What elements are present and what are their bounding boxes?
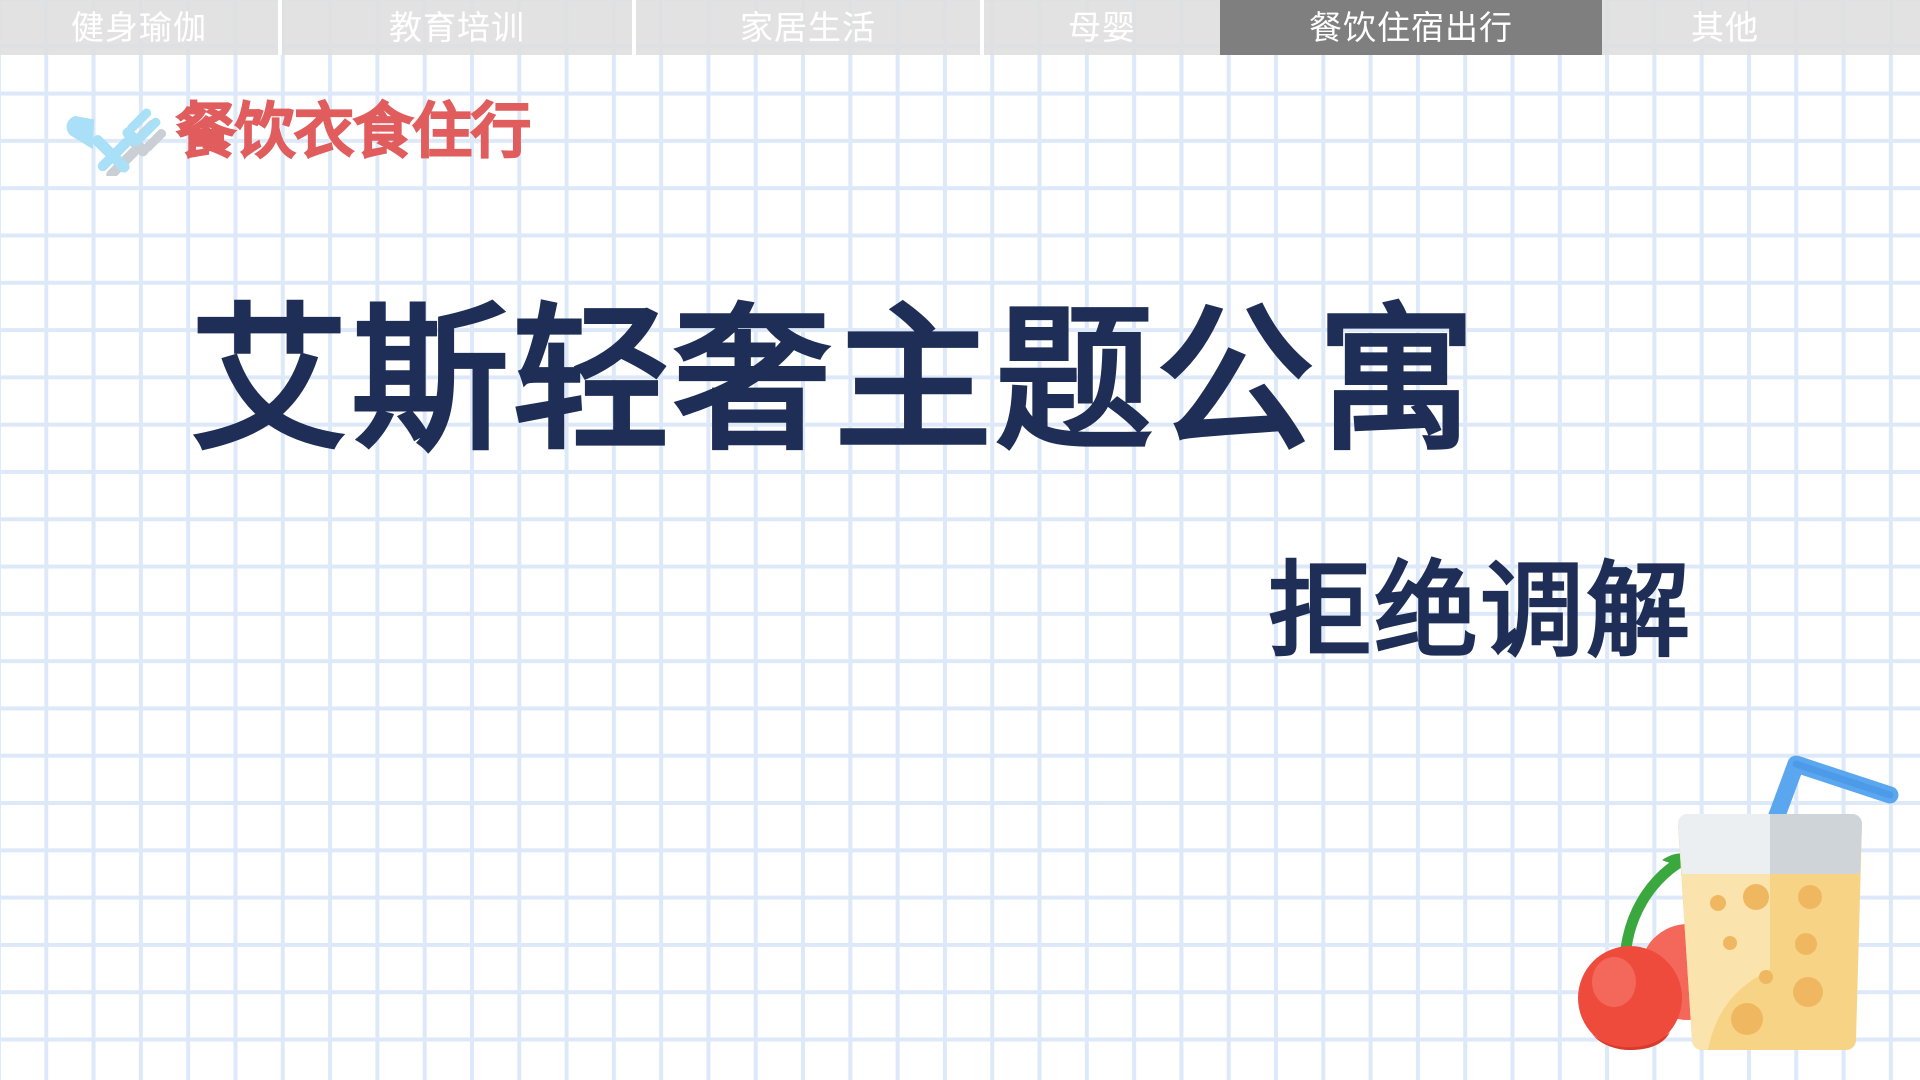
nav-tab-dining-lodging-travel[interactable]: 餐饮住宿出行 — [1220, 0, 1602, 55]
nav-tab-label: 家居生活 — [740, 11, 876, 44]
nav-tab-label: 母婴 — [1068, 11, 1136, 44]
nav-tab-fitness-yoga[interactable]: 健身瑜伽 — [0, 0, 278, 55]
page-title: 艾斯轻奢主题公寓 — [190, 302, 1478, 460]
brand-logo: 餐饮衣食住行 — [62, 80, 582, 178]
nav-tab-education-training[interactable]: 教育培训 — [282, 0, 632, 55]
nav-tab-maternity-baby[interactable]: 母婴 — [984, 0, 1220, 55]
brand-logo-text: 餐饮衣食住行 — [176, 102, 530, 162]
knife-and-fork-icon — [62, 80, 166, 176]
nav-tab-home-living[interactable]: 家居生活 — [636, 0, 980, 55]
nav-tab-label: 教育培训 — [389, 11, 525, 44]
nav-tab-other[interactable]: 其他 — [1602, 0, 1848, 55]
cherry-juice-icon — [1570, 740, 1900, 1080]
graph-paper-canvas: 健身瑜伽 教育培训 家居生活 母婴 餐饮住宿出行 其他 — [0, 0, 1920, 1080]
nav-tab-label: 餐饮住宿出行 — [1309, 11, 1513, 44]
nav-tab-label: 其他 — [1691, 11, 1759, 44]
category-navbar: 健身瑜伽 教育培训 家居生活 母婴 餐饮住宿出行 其他 — [0, 0, 1920, 55]
page-subtitle: 拒绝调解 — [1268, 560, 1692, 664]
nav-tab-label: 健身瑜伽 — [71, 11, 207, 44]
